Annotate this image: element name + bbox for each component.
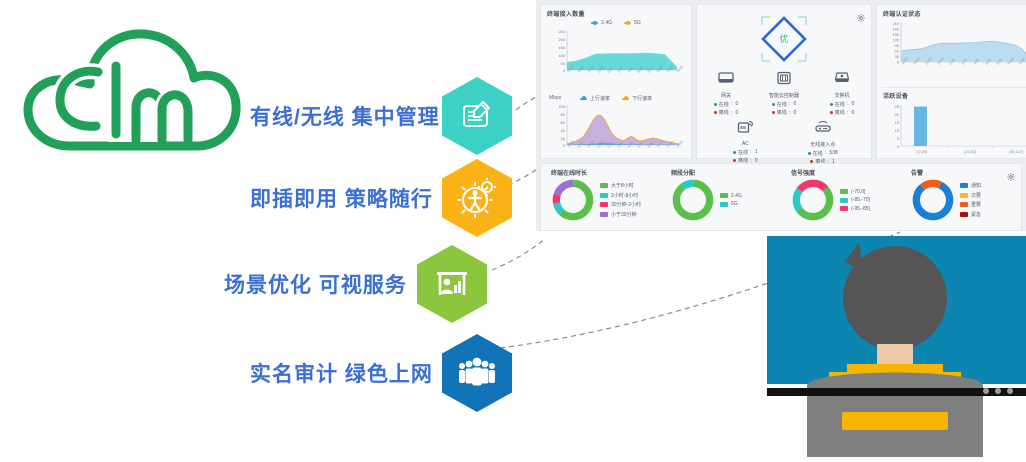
device-health-card: 优 网关 在线: 0 离线: 0 bbox=[696, 4, 872, 159]
feature-row-4[interactable]: 实名审计 绿色上网 bbox=[250, 334, 512, 412]
person-at-monitor-illustration bbox=[767, 236, 1026, 457]
legend-item: 下行速率 bbox=[622, 95, 652, 102]
donut-chart bbox=[671, 178, 715, 222]
feature-label-2: 即插即用 策略随行 bbox=[250, 183, 428, 213]
legend-item: 上行速率 bbox=[580, 95, 610, 102]
feature-row-3[interactable]: 场景优化 可视服务 bbox=[224, 245, 487, 323]
svg-text:14:00: 14:00 bbox=[676, 140, 684, 149]
feature-label-1: 有线/无线 集中管理 bbox=[250, 101, 428, 131]
access-point-icon bbox=[814, 120, 832, 134]
svg-text:15: 15 bbox=[895, 120, 900, 125]
card-title-terminal-count: 终端接入数量 bbox=[547, 9, 691, 18]
gear-icon[interactable] bbox=[1007, 168, 1015, 176]
device-row-bottom: AC 在线: 1 离线: 0 无线接入点 bbox=[697, 120, 871, 165]
svg-text:(0,25]: (0,25] bbox=[917, 150, 927, 154]
document-edit-icon bbox=[442, 77, 512, 155]
card-title-auth: 终端认证状态 bbox=[883, 9, 1026, 18]
svg-text:210: 210 bbox=[892, 21, 899, 26]
cloud-controller-icon bbox=[776, 71, 792, 85]
device-row-top: 网关 在线: 0 离线: 0 智能云控制器 在线: 0 bbox=[697, 71, 871, 116]
feature-hex-2[interactable] bbox=[442, 159, 512, 237]
donut-title: 频段分配 bbox=[671, 168, 781, 177]
svg-text:150: 150 bbox=[892, 32, 899, 37]
device-switch[interactable]: 交换机 在线: 0 离线: 0 bbox=[813, 71, 871, 116]
svg-text:10: 10 bbox=[895, 128, 900, 133]
page-root: 有线/无线 集中管理 即插即用 策略随行 bbox=[0, 0, 1026, 457]
legend-item: 5G bbox=[720, 201, 742, 207]
presentation-chart-icon bbox=[417, 245, 487, 323]
svg-text:50: 50 bbox=[561, 61, 566, 66]
svg-text:14:00: 14:00 bbox=[676, 65, 684, 74]
donut-legend: 通知 次要 重要 紧急 bbox=[960, 182, 981, 218]
svg-text:60: 60 bbox=[895, 49, 900, 54]
device-status-grid: 网关 在线: 0 离线: 0 智能云控制器 在线: 0 bbox=[697, 71, 871, 165]
feature-label-3: 场景优化 可视服务 bbox=[224, 269, 402, 299]
device-gateway[interactable]: 网关 在线: 0 离线: 0 bbox=[697, 71, 755, 116]
svg-text:90: 90 bbox=[895, 43, 900, 48]
feature-hex-3[interactable] bbox=[417, 245, 487, 323]
svg-text:25: 25 bbox=[895, 104, 900, 109]
feature-row-1[interactable]: 有线/无线 集中管理 bbox=[250, 77, 512, 155]
card-title-active: 活跃设备 bbox=[883, 91, 1026, 100]
svg-text:0: 0 bbox=[563, 68, 566, 73]
svg-text:0: 0 bbox=[897, 144, 900, 149]
chart-auth-status: 210180 150120 9060 300 14:00 16:00 20:00 bbox=[877, 18, 1026, 86]
donut-chart bbox=[911, 178, 955, 222]
legend-item: 大于8小时 bbox=[600, 182, 641, 189]
svg-text:100: 100 bbox=[558, 53, 565, 58]
donut-legend: 大于8小时 2小时-8小时 30分钟-2小时 小于30分钟 bbox=[600, 182, 641, 218]
person-gear-icon bbox=[442, 159, 512, 237]
feature-hex-1[interactable] bbox=[442, 77, 512, 155]
svg-text:0: 0 bbox=[563, 143, 566, 148]
legend-item: (-95,-85] bbox=[840, 206, 870, 212]
device-cloud-controller[interactable]: 智能云控制器 在线: 0 离线: 0 bbox=[755, 71, 813, 116]
legend-item: (-85,-70] bbox=[840, 197, 870, 203]
svg-text:60: 60 bbox=[561, 120, 566, 125]
donut-alarms: 告警 通知 次要 重要 紧急 bbox=[901, 164, 1021, 230]
donut-legend: (-70,0] (-85,-70] (-95,-85] bbox=[840, 189, 870, 212]
legend-item: 2小时-8小时 bbox=[600, 192, 641, 199]
legend-item: 2.4G bbox=[720, 193, 742, 199]
feature-hex-4[interactable] bbox=[442, 334, 512, 412]
legend-item: 紧急 bbox=[960, 211, 981, 218]
health-badge: 优 bbox=[756, 11, 812, 67]
legend-rate: 上行速率 下行速率 bbox=[541, 95, 691, 102]
donut-title: 信号强度 bbox=[791, 168, 901, 177]
rate-unit-label: Mbps bbox=[549, 95, 561, 101]
svg-text:30: 30 bbox=[895, 54, 900, 59]
svg-text:80: 80 bbox=[561, 112, 566, 117]
feature-row-2[interactable]: 即插即用 策略随行 bbox=[250, 159, 512, 237]
chart-rate: 10080 6040 200 14:00 18:00 20:00 22:00 bbox=[541, 102, 691, 165]
gateway-icon bbox=[718, 71, 734, 85]
auth-and-active-card: 终端认证状态 210180 150120 9060 300 14 bbox=[876, 4, 1026, 159]
chart-terminal-count: 250200 150100 500 14:00 18:00 20:00 22:0… bbox=[541, 26, 691, 91]
legend-item: 次要 bbox=[960, 192, 981, 199]
donut-online-duration: 终端在线时长 大于8小时 2小时-8小时 30分钟-2小时 小于30分钟 bbox=[541, 164, 661, 230]
legend-item: 重要 bbox=[960, 201, 981, 208]
chart-active-devices: 2520 1510 50 (0,25] (25,50] (50,127] bbox=[877, 100, 1026, 165]
ac-icon bbox=[737, 120, 753, 134]
feature-label-4: 实名审计 绿色上网 bbox=[250, 358, 428, 388]
cloud-logo bbox=[12, 22, 244, 208]
svg-text:40: 40 bbox=[561, 128, 566, 133]
health-badge-text: 优 bbox=[779, 33, 788, 44]
dashboard-panel: 终端接入数量 2.4G 5G 250200 150100 500 bbox=[536, 0, 1026, 231]
svg-text:20: 20 bbox=[561, 136, 566, 141]
svg-text:5: 5 bbox=[897, 136, 900, 141]
legend-item: 小于30分钟 bbox=[600, 211, 641, 218]
svg-text:250: 250 bbox=[558, 29, 565, 34]
legend-item: 30分钟-2小时 bbox=[600, 201, 641, 208]
donut-legend: 2.4G 5G bbox=[720, 193, 742, 208]
donut-chart bbox=[551, 178, 595, 222]
svg-text:20: 20 bbox=[895, 112, 900, 117]
people-group-icon bbox=[442, 334, 512, 412]
donut-signal-strength: 信号强度 (-70,0] (-85,-70] (-95,-85] bbox=[781, 164, 901, 230]
svg-text:(50,127]: (50,127] bbox=[1009, 150, 1023, 154]
gear-icon[interactable] bbox=[857, 9, 865, 17]
legend-item: 通知 bbox=[960, 182, 981, 189]
legend-item: (-70,0] bbox=[840, 189, 870, 195]
svg-text:180: 180 bbox=[892, 27, 899, 32]
donut-row: 终端在线时长 大于8小时 2小时-8小时 30分钟-2小时 小于30分钟 bbox=[540, 163, 1022, 231]
svg-text:200: 200 bbox=[558, 37, 565, 42]
svg-text:0: 0 bbox=[897, 60, 900, 65]
donut-band-allocation: 频段分配 2.4G 5G bbox=[661, 164, 781, 230]
donut-chart bbox=[791, 178, 835, 222]
terminal-count-card: 终端接入数量 2.4G 5G 250200 150100 500 bbox=[540, 4, 692, 159]
donut-title: 告警 bbox=[911, 168, 1021, 177]
switch-icon bbox=[834, 71, 850, 85]
donut-title: 终端在线时长 bbox=[551, 168, 661, 177]
svg-text:150: 150 bbox=[558, 45, 565, 50]
device-ac[interactable]: AC 在线: 1 离线: 0 bbox=[716, 120, 774, 165]
device-access-point[interactable]: 无线接入点 在线: 538 离线: 1 bbox=[794, 120, 852, 165]
svg-text:100: 100 bbox=[558, 104, 565, 109]
svg-text:120: 120 bbox=[892, 38, 899, 43]
svg-text:(25,50]: (25,50] bbox=[964, 150, 976, 154]
